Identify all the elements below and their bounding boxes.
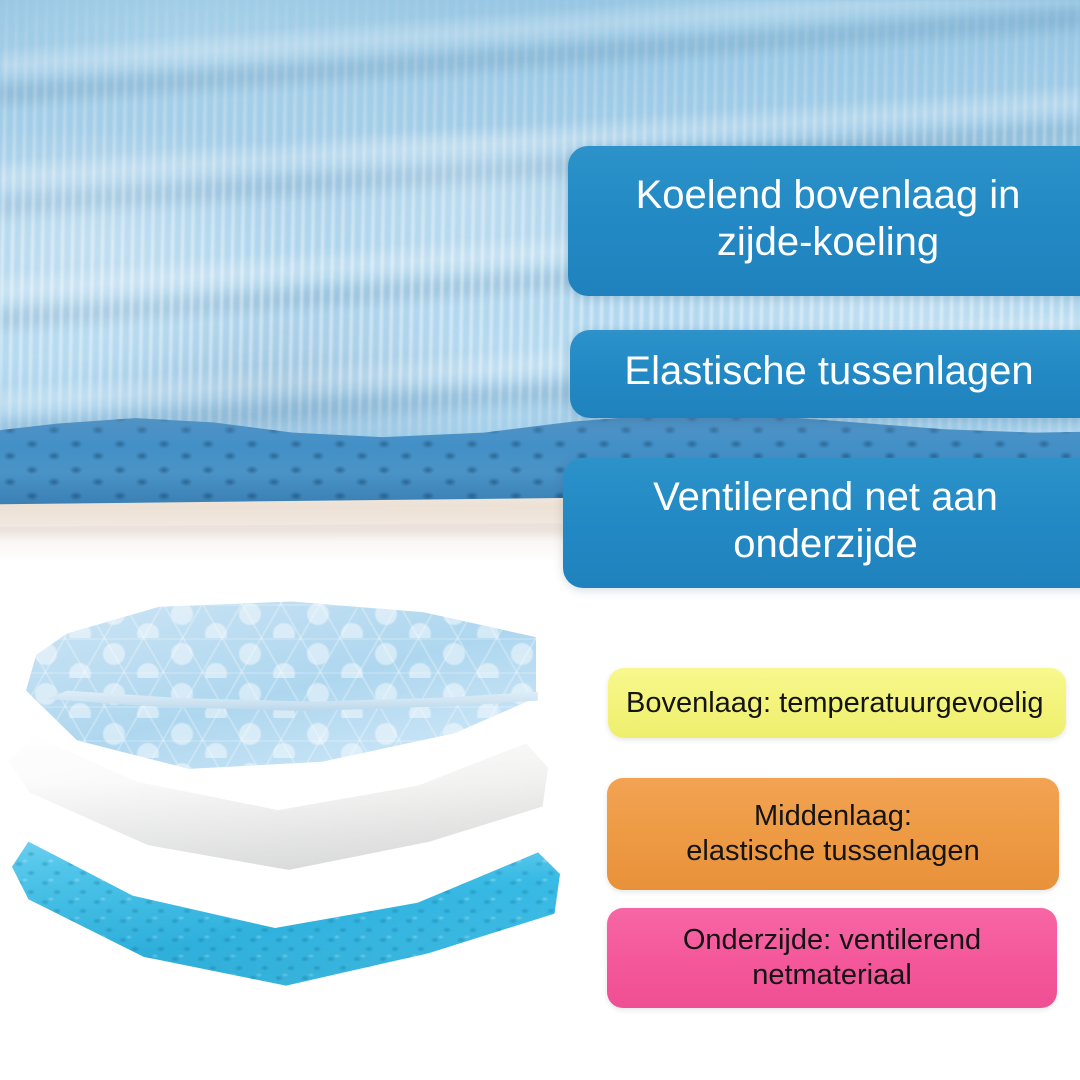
feature-banner-line-2: zijde-koeling: [636, 219, 1021, 266]
feature-banner-bottom-layer: Ventilerend net aan onderzijde: [563, 458, 1080, 588]
feature-banner-line-1: Ventilerend net aan: [653, 474, 998, 521]
layer-tag-bottom: Onderzijde: ventilerend netmateriaal: [607, 908, 1057, 1008]
feature-banner-middle-layer: Elastische tussenlagen: [570, 330, 1080, 418]
layer-tag-line-2: netmateriaal: [683, 958, 981, 993]
feature-banner-top-layer: Koelend bovenlaag in zijde-koeling: [568, 146, 1080, 296]
product-infographic: Koelend bovenlaag in zijde-koeling Elast…: [0, 0, 1080, 1080]
layer-tag-line-1: Middenlaag:: [686, 799, 979, 834]
feature-banner-line-1: Elastische tussenlagen: [624, 348, 1033, 395]
layer-tag-line-1: Onderzijde: ventilerend: [683, 923, 981, 958]
honeycomb-top-sheet: [26, 598, 536, 776]
feature-banner-line-2: onderzijde: [653, 521, 998, 568]
layer-tag-line-2: elastische tussenlagen: [686, 834, 979, 869]
layer-tag-middle: Middenlaag: elastische tussenlagen: [607, 778, 1059, 890]
layer-tag-line-1: Bovenlaag: temperatuurgevoelig: [626, 686, 1044, 721]
layer-diagram: [0, 590, 575, 1010]
honeycomb-cells: [26, 598, 536, 776]
layer-tag-top: Bovenlaag: temperatuurgevoelig: [608, 668, 1066, 738]
feature-banner-line-1: Koelend bovenlaag in: [636, 172, 1021, 219]
